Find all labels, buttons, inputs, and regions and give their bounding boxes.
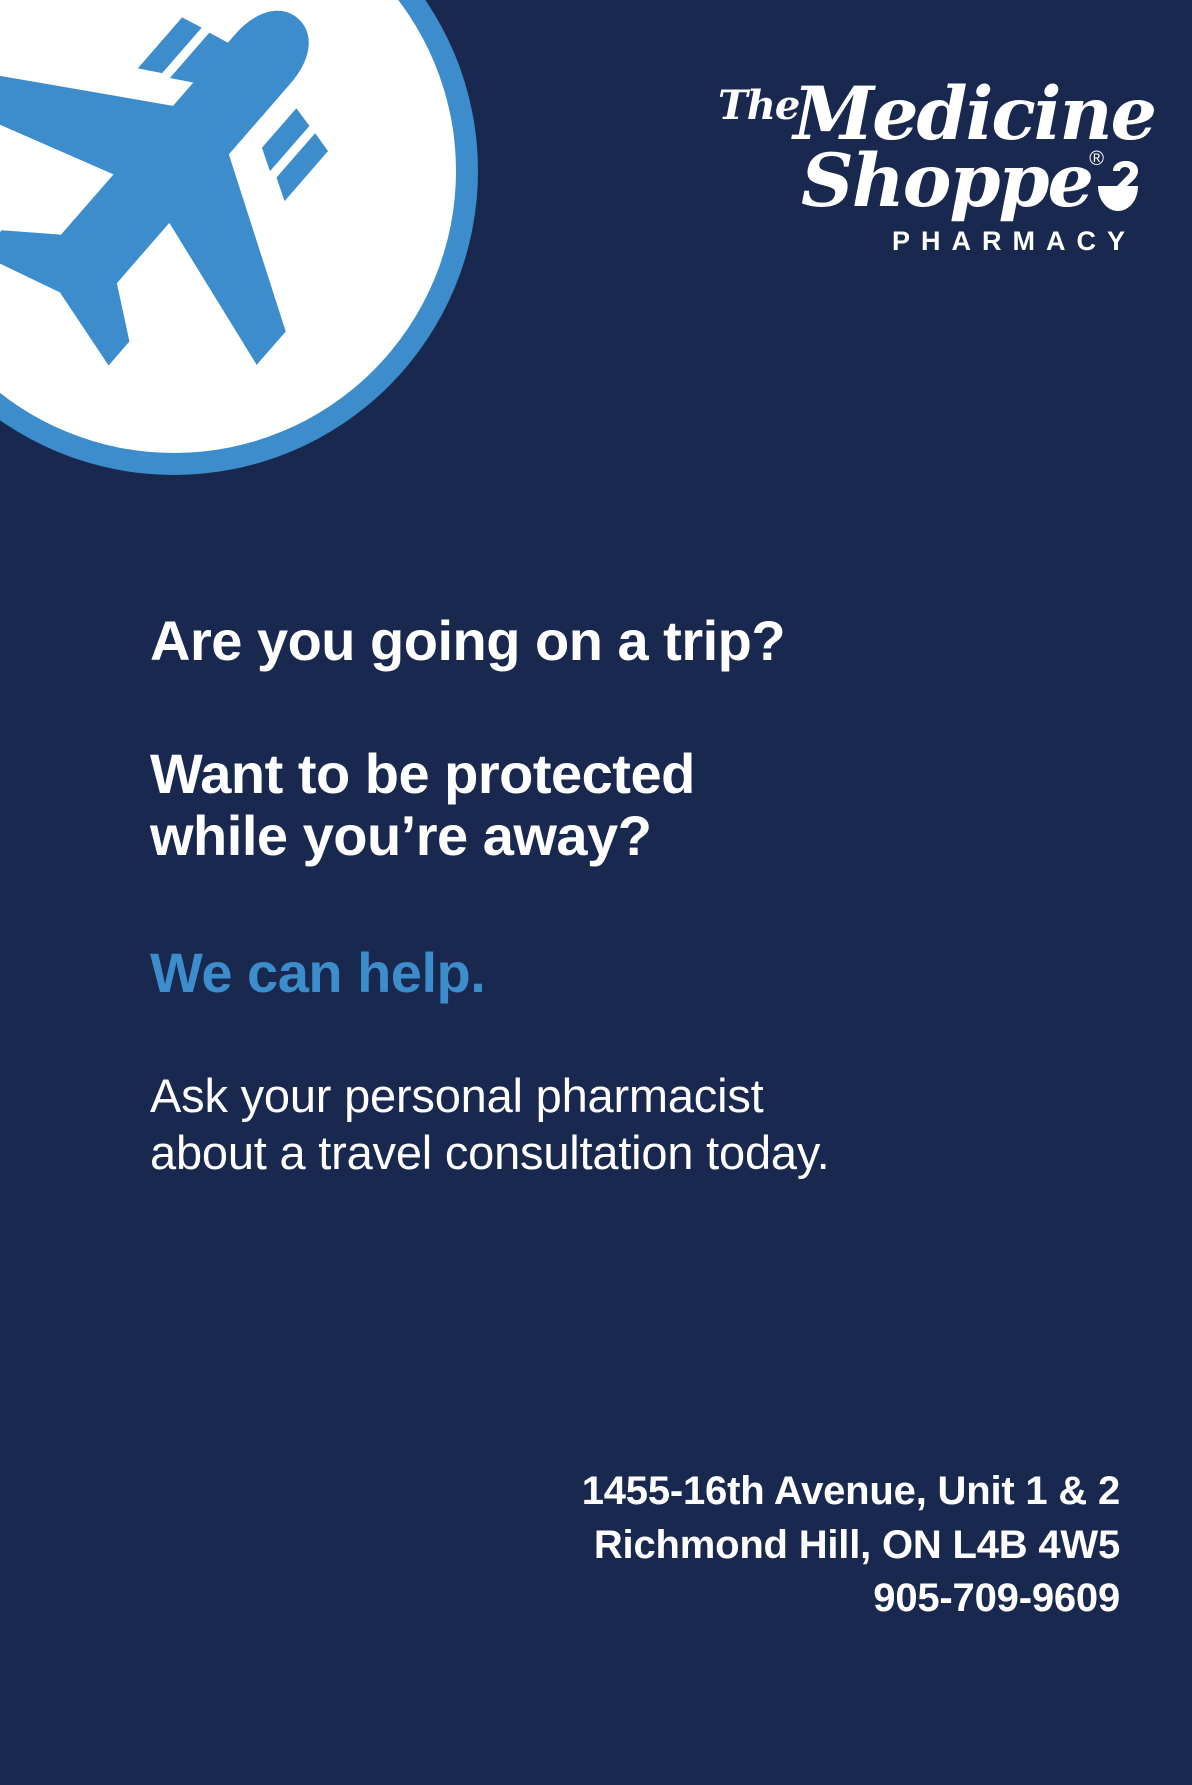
mortar-and-pestle-icon (1096, 161, 1142, 213)
address-city-province-postal: Richmond Hill, ON L4B 4W5 (582, 1519, 1120, 1572)
logo-tagline: PHARMACY (718, 228, 1138, 255)
headline-primary: Are you going on a trip? (150, 610, 1072, 673)
logo-word-the: The (718, 82, 799, 129)
airplane-icon (0, 0, 380, 386)
headline-accent: We can help. (150, 942, 1072, 1005)
brand-logo: TheMedicine Shoppe® PHARMACY (718, 78, 1138, 255)
airplane-badge (0, 0, 478, 475)
body-copy-line-1: Ask your personal pharmacist (150, 1067, 1072, 1124)
headline-secondary-line-1: Want to be protected (150, 742, 695, 805)
headline-secondary: Want to be protectedwhile you’re away? (150, 743, 1072, 868)
body-copy-line-2: about a travel consultation today. (150, 1124, 1072, 1181)
address-street: 1455-16th Avenue, Unit 1 & 2 (582, 1465, 1120, 1518)
airplane-badge-disc (0, 0, 456, 453)
logo-line-shoppe: Shoppe® (718, 145, 1138, 218)
logo-word-shoppe: Shoppe (801, 138, 1092, 224)
copy-block: Are you going on a trip? Want to be prot… (150, 610, 1072, 1229)
poster-canvas: TheMedicine Shoppe® PHARMACY Are you goi… (0, 0, 1192, 1785)
address-block: 1455-16th Avenue, Unit 1 & 2 Richmond Hi… (582, 1465, 1120, 1625)
phone-number[interactable]: 905-709-9609 (582, 1572, 1120, 1625)
body-copy: Ask your personal pharmacist about a tra… (150, 1067, 1072, 1182)
headline-secondary-line-2: while you’re away? (150, 804, 651, 867)
